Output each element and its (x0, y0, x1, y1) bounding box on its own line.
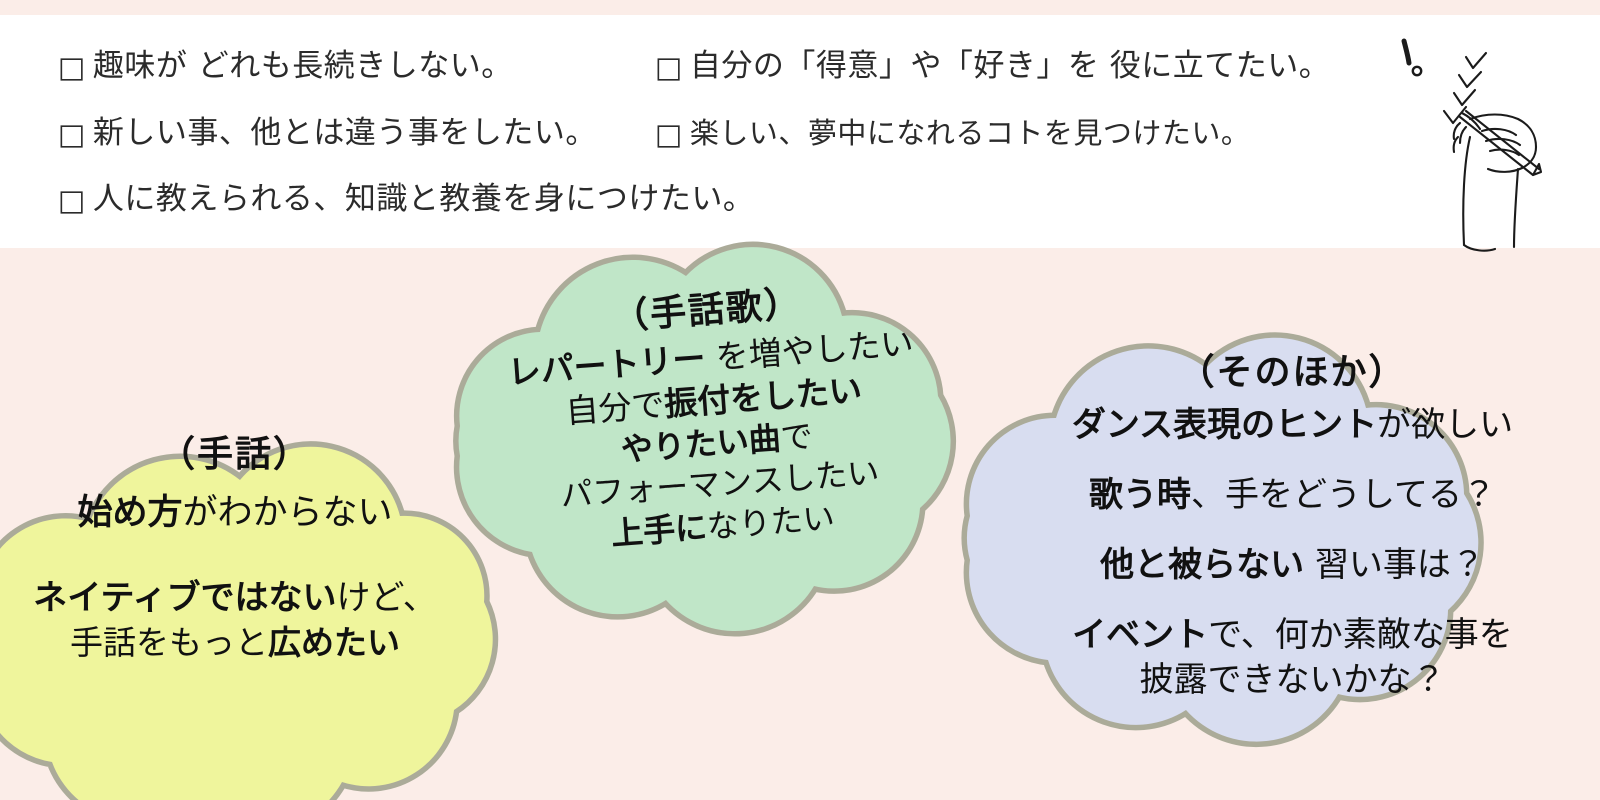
bubble-lavender-line-5: 披露できないかな？ (985, 658, 1600, 702)
hand-with-pencil-icon (1400, 33, 1600, 255)
bubble-yellow-line-1: 始め方がわからない (0, 491, 470, 537)
bubble-lavender-line-2: 歌う時、手をどうしてる？ (985, 473, 1600, 517)
bubble-yellow-line-1-bold: 始め方 (77, 493, 182, 533)
bubble-lavender-spacer-2 (985, 517, 1600, 543)
bubble-yellow-line-3-bold: 広めたい (268, 623, 400, 662)
checklist-item-label: 人に教えられる、知識と教養を身につけたい。 (93, 181, 755, 217)
bubble-yellow-text: （手話） 始め方がわからない ネイティブではないけど、 手話をもっと広めたい (0, 432, 470, 665)
bubble-lavender-title: （そのほか） (985, 350, 1600, 397)
checkbox-icon[interactable]: □ (58, 117, 86, 151)
bubble-lavender-line-3-rest: 習い事は？ (1304, 545, 1485, 585)
bubble-yellow-line-3: 手話をもっと広めたい (0, 622, 470, 665)
bubble-lavender-line-2-rest: 、手をどうしてる？ (1191, 475, 1496, 515)
checklist-item-label: 新しい事、他とは違う事をしたい。 (93, 115, 597, 151)
bubble-green-line-3-rest: で (779, 417, 814, 457)
checklist-item-new-and-different[interactable]: □新しい事、他とは違う事をしたい。 (58, 107, 597, 152)
bubble-yellow-spacer (0, 536, 470, 576)
checklist-item-label: 楽しい、夢中になれるコトを見つけたい。 (690, 116, 1251, 150)
checklist-item-use-strengths[interactable]: □自分の「得意」や「好き」を 役に立てたい。 (655, 40, 1330, 85)
bubble-green-line-2-pre: 自分で (564, 384, 666, 430)
bubble-lavender-line-5-rest: 披露できないかな？ (1140, 660, 1446, 700)
bubble-lavender-line-1-bold: ダンス表現のヒント (1072, 405, 1377, 445)
bubble-yellow-line-2-rest: けど、 (336, 578, 436, 618)
bubble-yellow-line-1-rest: がわからない (183, 493, 393, 533)
bubble-yellow-line-2-bold: ネイティブではない (33, 578, 336, 618)
bubble-lavender-spacer-3 (985, 587, 1600, 613)
bubble-lavender-text: （そのほか） ダンス表現のヒントが欲しい 歌う時、手をどうしてる？ 他と被らない… (985, 350, 1600, 702)
checkbox-icon[interactable]: □ (58, 50, 86, 84)
bubble-lavender-line-4-bold: イベント (1072, 615, 1208, 655)
bubble-lavender-line-3: 他と被らない 習い事は？ (985, 543, 1600, 587)
bubble-yellow-title: （手話） (0, 432, 470, 479)
bubble-green-line-5-rest: なりたい (706, 498, 836, 545)
bubble-lavender-spacer-1 (985, 447, 1600, 473)
checklist-item-label: 趣味が どれも長続きしない。 (93, 48, 513, 84)
bubble-green-line-5-bold: 上手に (610, 508, 709, 553)
top-pink-band (0, 0, 1600, 15)
bubble-lavender-line-4: イベントで、何か素敵な事を (985, 613, 1600, 657)
checklist-item-find-fun-passion[interactable]: □楽しい、夢中になれるコトを見つけたい。 (655, 110, 1250, 152)
checklist-item-label: 自分の「得意」や「好き」を 役に立てたい。 (690, 48, 1330, 84)
checkbox-icon[interactable]: □ (655, 50, 683, 84)
bubble-yellow-line-2: ネイティブではないけど、 (0, 576, 470, 620)
bubble-lavender-line-4-rest: で、何か素敵な事を (1208, 615, 1513, 655)
bubble-yellow-line-3-pre: 手話をもっと (70, 623, 268, 662)
checklist-item-knowledge-to-teach[interactable]: □人に教えられる、知識と教養を身につけたい。 (58, 173, 754, 218)
checkbox-icon[interactable]: □ (58, 183, 86, 217)
bubble-green-text: （手話歌） レパートリー を増やしたい 自分で振付をしたい やりたい曲で パフォ… (446, 269, 984, 566)
bubble-lavender-line-3-bold: 他と被らない (1100, 545, 1304, 585)
checklist-item-hobby-not-lasting[interactable]: □趣味が どれも長続きしない。 (58, 40, 513, 85)
bubble-lavender-line-2-bold: 歌う時 (1089, 475, 1191, 515)
poster-page: □趣味が どれも長続きしない。 □自分の「得意」や「好き」を 役に立てたい。 □… (0, 0, 1600, 800)
bubble-lavender-line-1: ダンス表現のヒントが欲しい (985, 403, 1600, 447)
checkbox-icon[interactable]: □ (655, 117, 683, 151)
bubble-lavender-line-1-rest: が欲しい (1377, 405, 1513, 445)
checklist-panel: □趣味が どれも長続きしない。 □自分の「得意」や「好き」を 役に立てたい。 □… (0, 15, 1600, 248)
